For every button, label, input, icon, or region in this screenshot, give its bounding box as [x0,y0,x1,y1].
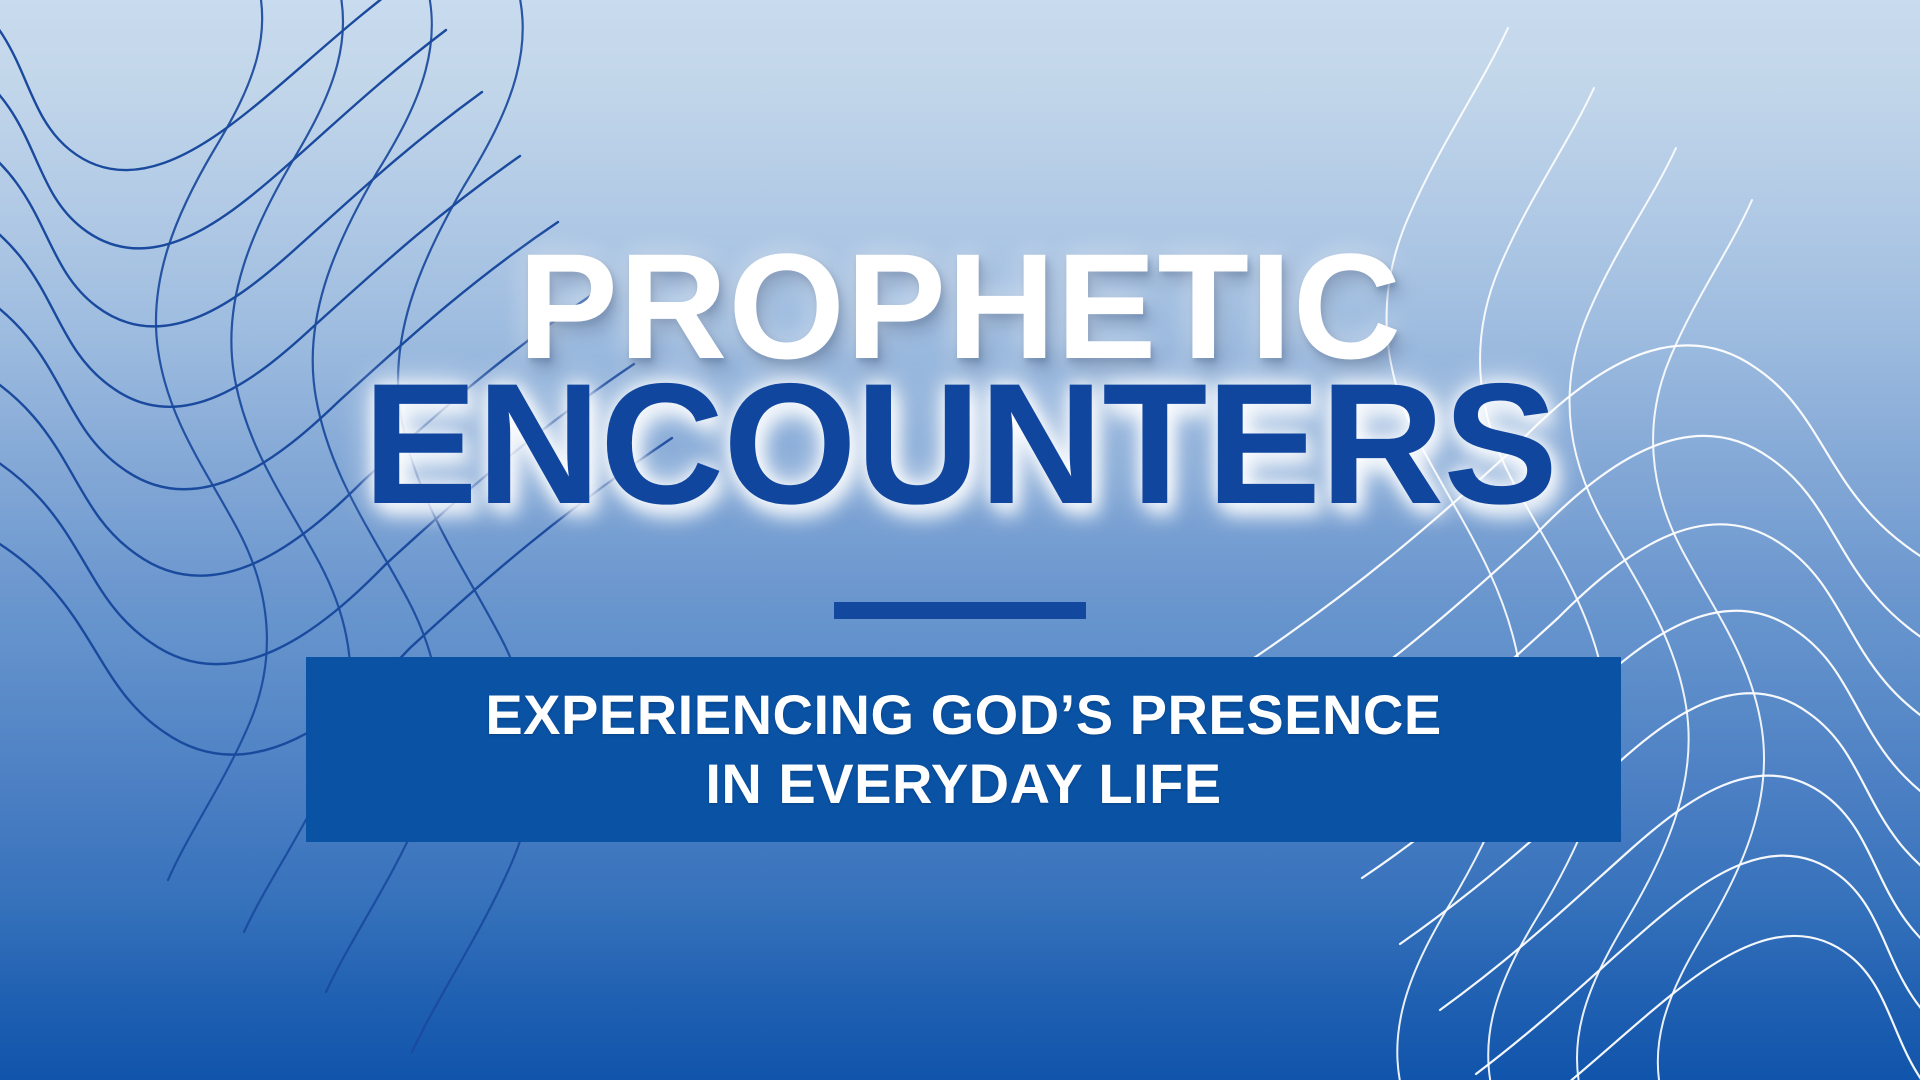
title-block: PROPHETIC ENCOUNTERS [210,236,1710,523]
slide-content: PROPHETIC ENCOUNTERS EXPERIENCING GOD’S … [0,0,1920,1080]
subtitle-line-2: IN EVERYDAY LIFE [705,751,1221,817]
slide-canvas: PROPHETIC ENCOUNTERS EXPERIENCING GOD’S … [0,0,1920,1080]
title-divider-bar [834,602,1086,619]
page-title-line-2: ENCOUNTERS [210,365,1710,523]
subtitle-line-1: EXPERIENCING GOD’S PRESENCE [485,682,1441,748]
subtitle-banner: EXPERIENCING GOD’S PRESENCE IN EVERYDAY … [306,657,1621,842]
